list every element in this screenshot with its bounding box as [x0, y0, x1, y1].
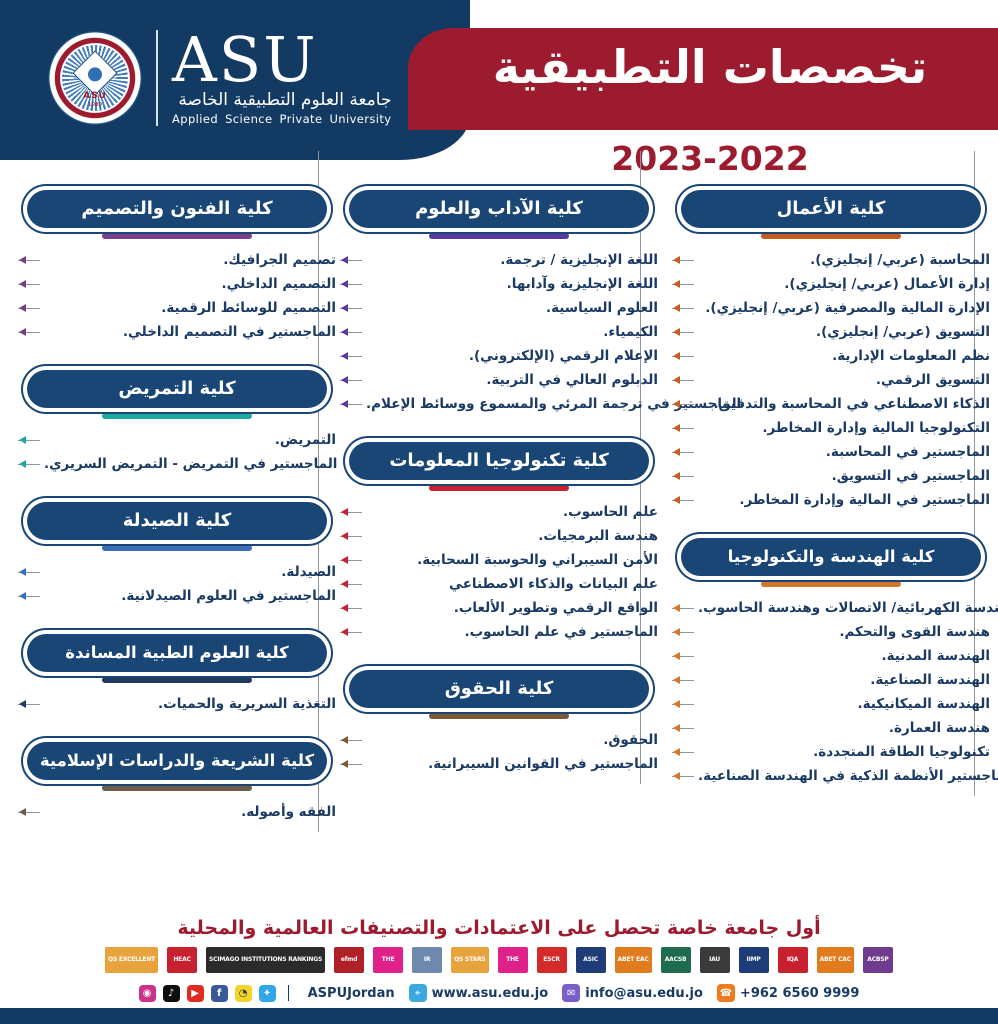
arrow-left-icon — [673, 424, 680, 432]
program-name: الماجستير في المحاسبة. — [694, 444, 990, 460]
logo-wordmark: ASU جامعة العلوم التطبيقية الخاصة Applie… — [172, 31, 391, 126]
arrow-left-icon — [673, 400, 680, 408]
program-name: الماجستير في التصميم الداخلي. — [40, 324, 336, 340]
college-sharia: كلية الشريعة والدراسات الإسلاميةالفقه وأ… — [18, 742, 336, 824]
phone-text-group[interactable]: ☎+962 6560 9999 — [717, 984, 859, 1002]
program-name: الماجستير في التمريض - التمريض السريري. — [40, 456, 337, 472]
program-name: الدبلوم العالي في التربية. — [362, 372, 658, 388]
program-item[interactable]: هندسة القوى والتحكم. — [672, 620, 990, 644]
program-name: المحاسبة (عربي/ إنجليزي). — [694, 252, 990, 268]
program-name: الهندسة الميكانيكية. — [694, 696, 990, 712]
program-name: التصميم الداخلي. — [40, 276, 336, 292]
colleges-board: كلية الفنون والتصميمتصميم الجرافيك.التصم… — [0, 185, 998, 895]
college-name: كلية الأعمال — [681, 190, 981, 228]
college-accent-bar — [102, 545, 252, 551]
program-item[interactable]: العلوم السياسية. — [340, 296, 658, 320]
social-handle: ASPUJordan — [308, 986, 395, 1001]
arrow-left-icon — [673, 700, 680, 708]
program-connector — [18, 284, 40, 285]
program-name: الأمن السيبراني والحوسبة السحابية. — [362, 552, 658, 568]
program-connector — [672, 656, 694, 657]
program-item[interactable]: الأمن السيبراني والحوسبة السحابية. — [340, 548, 658, 572]
program-item[interactable]: اللغة الإنجليزية / ترجمة. — [340, 248, 658, 272]
arrow-left-icon — [341, 580, 348, 588]
program-connector — [18, 596, 40, 597]
arrow-left-icon — [673, 256, 680, 264]
program-name: الماجستير في المالية وإدارة المخاطر. — [694, 492, 990, 508]
program-item[interactable]: إدارة الأعمال (عربي/ إنجليزي). — [672, 272, 990, 296]
college-header[interactable]: كلية العلوم الطبية المساندة — [18, 634, 336, 683]
accreditation-logo: efmd — [334, 947, 364, 973]
program-list: الهندسة الكهربائية/ الاتصالات وهندسة الح… — [672, 596, 990, 788]
arrow-left-icon — [19, 436, 26, 444]
arrow-left-icon — [673, 748, 680, 756]
program-connector — [672, 260, 694, 261]
program-list: الصيدلة.الماجستير في العلوم الصيدلانية. — [18, 560, 336, 608]
program-name: الواقع الرقمي وتطوير الألعاب. — [362, 600, 658, 616]
twitter-icon[interactable]: ✦ — [259, 985, 276, 1002]
program-name: علم الحاسوب. — [362, 504, 658, 520]
program-item[interactable]: هندسة العمارة. — [672, 716, 990, 740]
college-name: كلية الفنون والتصميم — [27, 190, 327, 228]
program-item[interactable]: الماجستير في القوانين السيبرانية. — [340, 752, 658, 776]
program-item[interactable]: الهندسة الصناعية. — [672, 668, 990, 692]
college-header[interactable]: كلية الحقوق — [340, 670, 658, 719]
program-name: الصيدلة. — [40, 564, 336, 580]
program-item[interactable]: الكيمياء. — [340, 320, 658, 344]
college-business: كلية الأعمالالمحاسبة (عربي/ إنجليزي).إدا… — [672, 190, 990, 512]
logo-english-name: Applied Science Private University — [172, 114, 391, 126]
program-name: الهندسة الصناعية. — [694, 672, 990, 688]
arrow-left-icon — [19, 568, 26, 576]
program-item[interactable]: الهندسة الكهربائية/ الاتصالات وهندسة الح… — [672, 596, 990, 620]
program-item[interactable]: ماجستير الأنظمة الذكية في الهندسة الصناع… — [672, 764, 990, 788]
program-item[interactable]: الذكاء الاصطناعي في المحاسبة والتدقيق. — [672, 392, 990, 416]
program-name: الهندسة المدنية. — [694, 648, 990, 664]
college-accent-bar — [761, 581, 901, 587]
arrow-left-icon — [673, 724, 680, 732]
logo-divider — [156, 30, 158, 126]
arrow-left-icon — [19, 592, 26, 600]
program-connector — [340, 764, 362, 765]
logo-acronym: ASU — [172, 31, 391, 88]
program-connector — [340, 260, 362, 261]
college-name: كلية العلوم الطبية المساندة — [27, 634, 327, 672]
college-accent-bar — [102, 233, 252, 239]
program-list: تصميم الجرافيك.التصميم الداخلي.التصميم ل… — [18, 248, 336, 344]
arrow-left-icon — [341, 556, 348, 564]
arrow-left-icon — [673, 652, 680, 660]
arrow-left-icon — [673, 280, 680, 288]
program-connector — [18, 440, 40, 441]
program-connector — [672, 428, 694, 429]
college-header[interactable]: كلية التمريض — [18, 370, 336, 419]
program-item[interactable]: الماجستير في علم الحاسوب. — [340, 620, 658, 644]
seal-atom-icon — [72, 50, 117, 95]
program-item[interactable]: التغذية السريرية والحميات. — [18, 692, 336, 716]
program-list: التغذية السريرية والحميات. — [18, 692, 336, 716]
program-connector — [18, 332, 40, 333]
email-text: info@asu.edu.jo — [585, 986, 703, 1001]
arrow-left-icon — [673, 448, 680, 456]
program-list: الحقوق.الماجستير في القوانين السيبرانية. — [340, 728, 658, 776]
college-name: كلية التمريض — [27, 370, 327, 408]
facebook-icon[interactable]: f — [211, 985, 228, 1002]
program-item[interactable]: التسويق (عربي/ إنجليزي). — [672, 320, 990, 344]
program-connector — [18, 308, 40, 309]
college-accent-bar — [102, 413, 252, 419]
program-list: علم الحاسوب.هندسة البرمجيات.الأمن السيبر… — [340, 500, 658, 644]
program-connector — [340, 608, 362, 609]
youtube-icon[interactable]: ▶ — [187, 985, 204, 1002]
program-name: التكنولوجيا المالية وإدارة المخاطر. — [694, 420, 990, 436]
arrow-left-icon — [19, 256, 26, 264]
program-name: الماجستير في التسويق. — [694, 468, 990, 484]
program-name: التصميم للوسائط الرقمية. — [40, 300, 336, 316]
program-connector — [18, 572, 40, 573]
program-name: نظم المعلومات الإدارية. — [694, 348, 990, 364]
accreditation-logo: HEAC — [167, 947, 197, 973]
website-text: www.asu.edu.jo — [432, 986, 549, 1001]
program-connector — [672, 632, 694, 633]
program-name: التغذية السريرية والحميات. — [40, 696, 336, 712]
social-handle-group[interactable]: ASPUJordan — [308, 986, 395, 1001]
arrow-left-icon — [673, 472, 680, 480]
academic-year: 2023-2022 — [440, 139, 980, 178]
program-item[interactable]: نظم المعلومات الإدارية. — [672, 344, 990, 368]
program-connector — [340, 308, 362, 309]
program-item[interactable]: اللغة الإنجليزية وآدابها. — [340, 272, 658, 296]
program-connector — [672, 308, 694, 309]
program-name: الماجستير في العلوم الصيدلانية. — [40, 588, 336, 604]
college-engineering: كلية الهندسة والتكنولوجياالهندسة الكهربا… — [672, 538, 990, 788]
accreditation-logo-strip: QS EXCELLENTHEACSCIMAGO INSTITUTIONS RAN… — [0, 945, 998, 979]
accreditation-logo: IQA — [778, 947, 808, 973]
college-header[interactable]: كلية الشريعة والدراسات الإسلامية — [18, 742, 336, 791]
snapchat-icon[interactable]: ◔ — [235, 985, 252, 1002]
program-connector — [672, 404, 694, 405]
accreditation-logo: IIMP — [739, 947, 769, 973]
college-arts-sciences: كلية الآداب والعلوماللغة الإنجليزية / تر… — [340, 190, 658, 416]
phone-icon: ☎ — [717, 984, 735, 1002]
program-name: هندسة القوى والتحكم. — [694, 624, 990, 640]
college-arts-design: كلية الفنون والتصميمتصميم الجرافيك.التصم… — [18, 190, 336, 344]
college-name: كلية الهندسة والتكنولوجيا — [681, 538, 981, 576]
program-item[interactable]: التمريض. — [18, 428, 336, 452]
college-accent-bar — [429, 713, 569, 719]
university-seal-icon: ASU 1989 — [48, 31, 142, 125]
program-connector — [672, 476, 694, 477]
college-name: كلية تكنولوجيا المعلومات — [349, 442, 649, 480]
accreditation-logo: ASIC — [576, 947, 606, 973]
accreditation-logo: THE — [498, 947, 528, 973]
arrow-left-icon — [673, 676, 680, 684]
arrow-left-icon — [673, 604, 680, 612]
arrow-left-icon — [341, 532, 348, 540]
program-connector — [672, 452, 694, 453]
college-header[interactable]: كلية الفنون والتصميم — [18, 190, 336, 239]
arrow-left-icon — [673, 772, 680, 780]
program-list: المحاسبة (عربي/ إنجليزي).إدارة الأعمال (… — [672, 248, 990, 512]
program-connector — [672, 704, 694, 705]
arrow-left-icon — [341, 604, 348, 612]
envelope-icon: ✉ — [562, 984, 580, 1002]
arrow-left-icon — [341, 328, 348, 336]
seal-year: 1989 — [48, 102, 142, 108]
college-header[interactable]: كلية تكنولوجيا المعلومات — [340, 442, 658, 491]
page-header: ASU 1989 ASU جامعة العلوم التطبيقية الخا… — [0, 0, 998, 185]
phone-text: +962 6560 9999 — [740, 986, 859, 1001]
program-connector — [672, 752, 694, 753]
accreditation-logo: THE — [373, 947, 403, 973]
accreditation-title: أول جامعة خاصة تحصل على الاعتمادات والتص… — [0, 917, 998, 945]
program-item[interactable]: علم البيانات والذكاء الاصطناعي — [340, 572, 658, 596]
program-connector — [340, 560, 362, 561]
program-name: الإعلام الرقمي (الإلكتروني). — [362, 348, 658, 364]
program-name: الحقوق. — [362, 732, 658, 748]
accreditation-logo: QS EXCELLENT — [105, 947, 158, 973]
arrow-left-icon — [341, 628, 348, 636]
college-name: كلية الشريعة والدراسات الإسلامية — [27, 742, 327, 780]
program-connector — [18, 704, 40, 705]
program-connector — [340, 536, 362, 537]
accreditation-logo: ABET CAC — [817, 947, 854, 973]
arrow-left-icon — [19, 808, 26, 816]
accreditation-logo: ABET EAC — [615, 947, 652, 973]
college-header[interactable]: كلية الأعمال — [672, 190, 990, 239]
program-item[interactable]: الدبلوم العالي في التربية. — [340, 368, 658, 392]
college-law: كلية الحقوقالحقوق.الماجستير في القوانين … — [340, 670, 658, 776]
accreditation-logo: SCIMAGO INSTITUTIONS RANKINGS — [206, 947, 325, 973]
program-name: تكنولوجيا الطاقة المتجددة. — [694, 744, 990, 760]
college-header[interactable]: كلية الصيدلة — [18, 502, 336, 551]
arrow-left-icon — [341, 280, 348, 288]
college-header[interactable]: كلية الآداب والعلوم — [340, 190, 658, 239]
program-connector — [340, 740, 362, 741]
program-name: التسويق (عربي/ إنجليزي). — [694, 324, 990, 340]
program-item[interactable]: الحقوق. — [340, 728, 658, 752]
page-title: تخصصات التطبيقية — [440, 36, 980, 98]
program-list: اللغة الإنجليزية / ترجمة.اللغة الإنجليزي… — [340, 248, 658, 416]
college-accent-bar — [429, 485, 569, 491]
program-item[interactable]: الإعلام الرقمي (الإلكتروني). — [340, 344, 658, 368]
program-connector — [340, 284, 362, 285]
program-name: العلوم السياسية. — [362, 300, 658, 316]
program-name: اللغة الإنجليزية وآدابها. — [362, 276, 658, 292]
program-item[interactable]: المحاسبة (عربي/ إنجليزي). — [672, 248, 990, 272]
program-connector — [340, 332, 362, 333]
program-name: علم البيانات والذكاء الاصطناعي — [362, 576, 658, 592]
college-pharmacy: كلية الصيدلةالصيدلة.الماجستير في العلوم … — [18, 502, 336, 608]
website-text-group[interactable]: ⌖www.asu.edu.jo — [409, 984, 549, 1002]
arrow-left-icon — [673, 376, 680, 384]
arrow-left-icon — [673, 352, 680, 360]
program-item[interactable]: الماجستير في التمريض - التمريض السريري. — [18, 452, 336, 476]
accreditation-logo: IAU — [700, 947, 730, 973]
program-name: هندسة البرمجيات. — [362, 528, 658, 544]
globe-icon: ⌖ — [409, 984, 427, 1002]
accreditation-logo: ESCR — [537, 947, 567, 973]
program-connector — [340, 512, 362, 513]
college-accent-bar — [102, 677, 252, 683]
program-connector — [340, 356, 362, 357]
accreditation-logo: QS STARS — [451, 947, 488, 973]
program-connector — [18, 812, 40, 813]
arrow-left-icon — [19, 280, 26, 288]
program-item[interactable]: تصميم الجرافيك. — [18, 248, 336, 272]
program-connector — [672, 380, 694, 381]
program-name: اللغة الإنجليزية / ترجمة. — [362, 252, 658, 268]
program-item[interactable]: علم الحاسوب. — [340, 500, 658, 524]
program-name: الفقه وأصوله. — [40, 804, 336, 820]
program-connector — [672, 356, 694, 357]
program-connector — [18, 260, 40, 261]
program-item[interactable]: الفقه وأصوله. — [18, 800, 336, 824]
program-name: الذكاء الاصطناعي في المحاسبة والتدقيق. — [694, 396, 990, 412]
program-name: التسويق الرقمي. — [694, 372, 990, 388]
arrow-left-icon — [341, 508, 348, 516]
program-item[interactable]: الماجستير في المحاسبة. — [672, 440, 990, 464]
contact-bar: ◉♪▶f◔✦ASPUJordan⌖www.asu.edu.jo✉info@asu… — [0, 979, 998, 1008]
arrow-left-icon — [19, 460, 26, 468]
program-item[interactable]: تكنولوجيا الطاقة المتجددة. — [672, 740, 990, 764]
program-list: التمريض.الماجستير في التمريض - التمريض ا… — [18, 428, 336, 476]
arrow-left-icon — [341, 400, 348, 408]
logo-arabic-name: جامعة العلوم التطبيقية الخاصة — [172, 92, 391, 109]
program-name: الماجستير في القوانين السيبرانية. — [362, 756, 658, 772]
page-footer: أول جامعة خاصة تحصل على الاعتمادات والتص… — [0, 917, 998, 1024]
program-connector — [340, 380, 362, 381]
college-information-technology: كلية تكنولوجيا المعلوماتعلم الحاسوب.هندس… — [340, 442, 658, 644]
arrow-left-icon — [341, 352, 348, 360]
arrow-left-icon — [341, 760, 348, 768]
program-name: ماجستير الأنظمة الذكية في الهندسة الصناع… — [694, 768, 998, 784]
program-name: الكيمياء. — [362, 324, 658, 340]
accreditation-logo: ACBSP — [863, 947, 893, 973]
footer-navy-strip — [0, 1008, 998, 1024]
program-connector — [672, 332, 694, 333]
program-item[interactable]: الهندسة الميكانيكية. — [672, 692, 990, 716]
instagram-icon[interactable]: ◉ — [139, 985, 156, 1002]
program-name: إدارة الأعمال (عربي/ إنجليزي). — [694, 276, 990, 292]
program-item[interactable]: الإدارة المالية والمصرفية (عربي/ إنجليزي… — [672, 296, 990, 320]
arrow-left-icon — [19, 700, 26, 708]
arrow-left-icon — [341, 376, 348, 384]
column-middle: كلية الآداب والعلوماللغة الإنجليزية / تر… — [340, 185, 658, 794]
arrow-left-icon — [341, 256, 348, 264]
program-connector — [18, 464, 40, 465]
program-connector — [672, 728, 694, 729]
program-item[interactable]: التكنولوجيا المالية وإدارة المخاطر. — [672, 416, 990, 440]
college-allied-medical: كلية العلوم الطبية المساندةالتغذية السري… — [18, 634, 336, 716]
college-accent-bar — [761, 233, 901, 239]
program-name: الماجستير في علم الحاسوب. — [362, 624, 658, 640]
program-name: هندسة العمارة. — [694, 720, 990, 736]
college-name: كلية الصيدلة — [27, 502, 327, 540]
arrow-left-icon — [673, 304, 680, 312]
program-item[interactable]: الماجستير في ترجمة المرئي والمسموع ووسائ… — [340, 392, 658, 416]
program-item[interactable]: الواقع الرقمي وتطوير الألعاب. — [340, 596, 658, 620]
accreditation-logo: AACSB — [661, 947, 691, 973]
program-connector — [340, 584, 362, 585]
program-item[interactable]: الهندسة المدنية. — [672, 644, 990, 668]
program-item[interactable]: التصميم للوسائط الرقمية. — [18, 296, 336, 320]
college-accent-bar — [102, 785, 252, 791]
arrow-left-icon — [673, 328, 680, 336]
program-item[interactable]: الماجستير في التصميم الداخلي. — [18, 320, 336, 344]
university-logo: ASU 1989 ASU جامعة العلوم التطبيقية الخا… — [48, 30, 391, 126]
program-name: الإدارة المالية والمصرفية (عربي/ إنجليزي… — [694, 300, 990, 316]
program-name: تصميم الجرافيك. — [40, 252, 336, 268]
college-header[interactable]: كلية الهندسة والتكنولوجيا — [672, 538, 990, 587]
program-connector — [672, 284, 694, 285]
arrow-left-icon — [341, 736, 348, 744]
arrow-left-icon — [19, 304, 26, 312]
program-name: الهندسة الكهربائية/ الاتصالات وهندسة الح… — [694, 600, 998, 616]
program-connector — [672, 776, 694, 777]
program-item[interactable]: هندسة البرمجيات. — [340, 524, 658, 548]
program-name: التمريض. — [40, 432, 336, 448]
program-connector — [340, 404, 362, 405]
program-item[interactable]: الماجستير في التسويق. — [672, 464, 990, 488]
college-nursing: كلية التمريضالتمريض.الماجستير في التمريض… — [18, 370, 336, 476]
program-connector — [340, 632, 362, 633]
program-item[interactable]: الصيدلة. — [18, 560, 336, 584]
program-connector — [672, 500, 694, 501]
arrow-left-icon — [673, 496, 680, 504]
program-list: الفقه وأصوله. — [18, 800, 336, 824]
arrow-left-icon — [673, 628, 680, 636]
arrow-left-icon — [19, 328, 26, 336]
accreditation-logo: IR — [412, 947, 442, 973]
seal-acronym: ASU — [48, 91, 142, 101]
column-left: كلية الفنون والتصميمتصميم الجرافيك.التصم… — [18, 185, 336, 842]
college-name: كلية الآداب والعلوم — [349, 190, 649, 228]
college-accent-bar — [429, 233, 569, 239]
college-name: كلية الحقوق — [349, 670, 649, 708]
column-right: كلية الأعمالالمحاسبة (عربي/ إنجليزي).إدا… — [672, 185, 990, 806]
program-item[interactable]: الماجستير في المالية وإدارة المخاطر. — [672, 488, 990, 512]
tiktok-icon[interactable]: ♪ — [163, 985, 180, 1002]
arrow-left-icon — [341, 304, 348, 312]
program-item[interactable]: التسويق الرقمي. — [672, 368, 990, 392]
program-connector — [672, 680, 694, 681]
program-item[interactable]: الماجستير في العلوم الصيدلانية. — [18, 584, 336, 608]
program-item[interactable]: التصميم الداخلي. — [18, 272, 336, 296]
contact-divider — [288, 985, 289, 1001]
email-text-group[interactable]: ✉info@asu.edu.jo — [562, 984, 703, 1002]
program-connector — [672, 608, 694, 609]
